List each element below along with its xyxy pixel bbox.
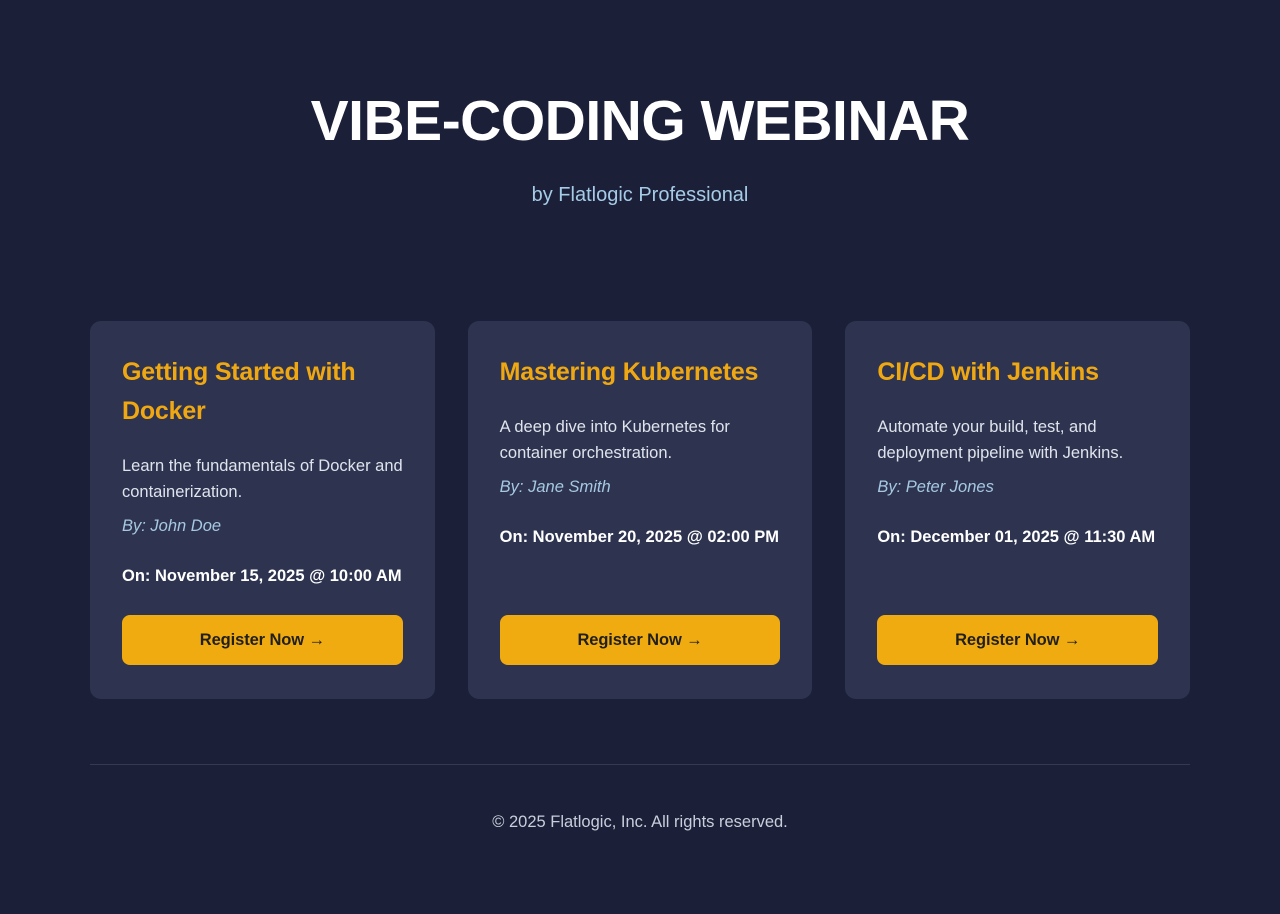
webinar-card-list: Getting Started with Docker Learn the fu… <box>90 321 1190 699</box>
card-author: By: Peter Jones <box>877 474 1158 500</box>
card-title: Getting Started with Docker <box>122 353 403 431</box>
card-title: CI/CD with Jenkins <box>877 353 1158 392</box>
register-now-button[interactable]: Register Now → <box>500 615 781 665</box>
page-title: VIBE-CODING WEBINAR <box>90 88 1190 154</box>
page-header: VIBE-CODING WEBINAR by Flatlogic Profess… <box>90 0 1190 208</box>
copyright-text: © 2025 Flatlogic, Inc. All rights reserv… <box>90 811 1190 833</box>
webinar-card-docker: Getting Started with Docker Learn the fu… <box>90 321 435 699</box>
card-spacer <box>877 550 1158 615</box>
card-description: A deep dive into Kubernetes for containe… <box>500 414 781 466</box>
register-now-button[interactable]: Register Now → <box>122 615 403 665</box>
card-title: Mastering Kubernetes <box>500 353 781 392</box>
page-subtitle: by Flatlogic Professional <box>90 182 1190 208</box>
register-now-button[interactable]: Register Now → <box>877 615 1158 665</box>
card-spacer <box>500 550 781 615</box>
webinar-card-kubernetes: Mastering Kubernetes A deep dive into Ku… <box>468 321 813 699</box>
webinar-card-jenkins: CI/CD with Jenkins Automate your build, … <box>845 321 1190 699</box>
card-description: Learn the fundamentals of Docker and con… <box>122 453 403 505</box>
card-date: On: November 15, 2025 @ 10:00 AM <box>122 563 403 589</box>
card-description: Automate your build, test, and deploymen… <box>877 414 1158 466</box>
page-footer: © 2025 Flatlogic, Inc. All rights reserv… <box>90 764 1190 833</box>
card-date: On: November 20, 2025 @ 02:00 PM <box>500 524 781 550</box>
card-date: On: December 01, 2025 @ 11:30 AM <box>877 524 1158 550</box>
card-author: By: John Doe <box>122 513 403 539</box>
card-spacer <box>122 589 403 615</box>
card-author: By: Jane Smith <box>500 474 781 500</box>
webinar-landing-page: VIBE-CODING WEBINAR by Flatlogic Profess… <box>0 0 1280 914</box>
